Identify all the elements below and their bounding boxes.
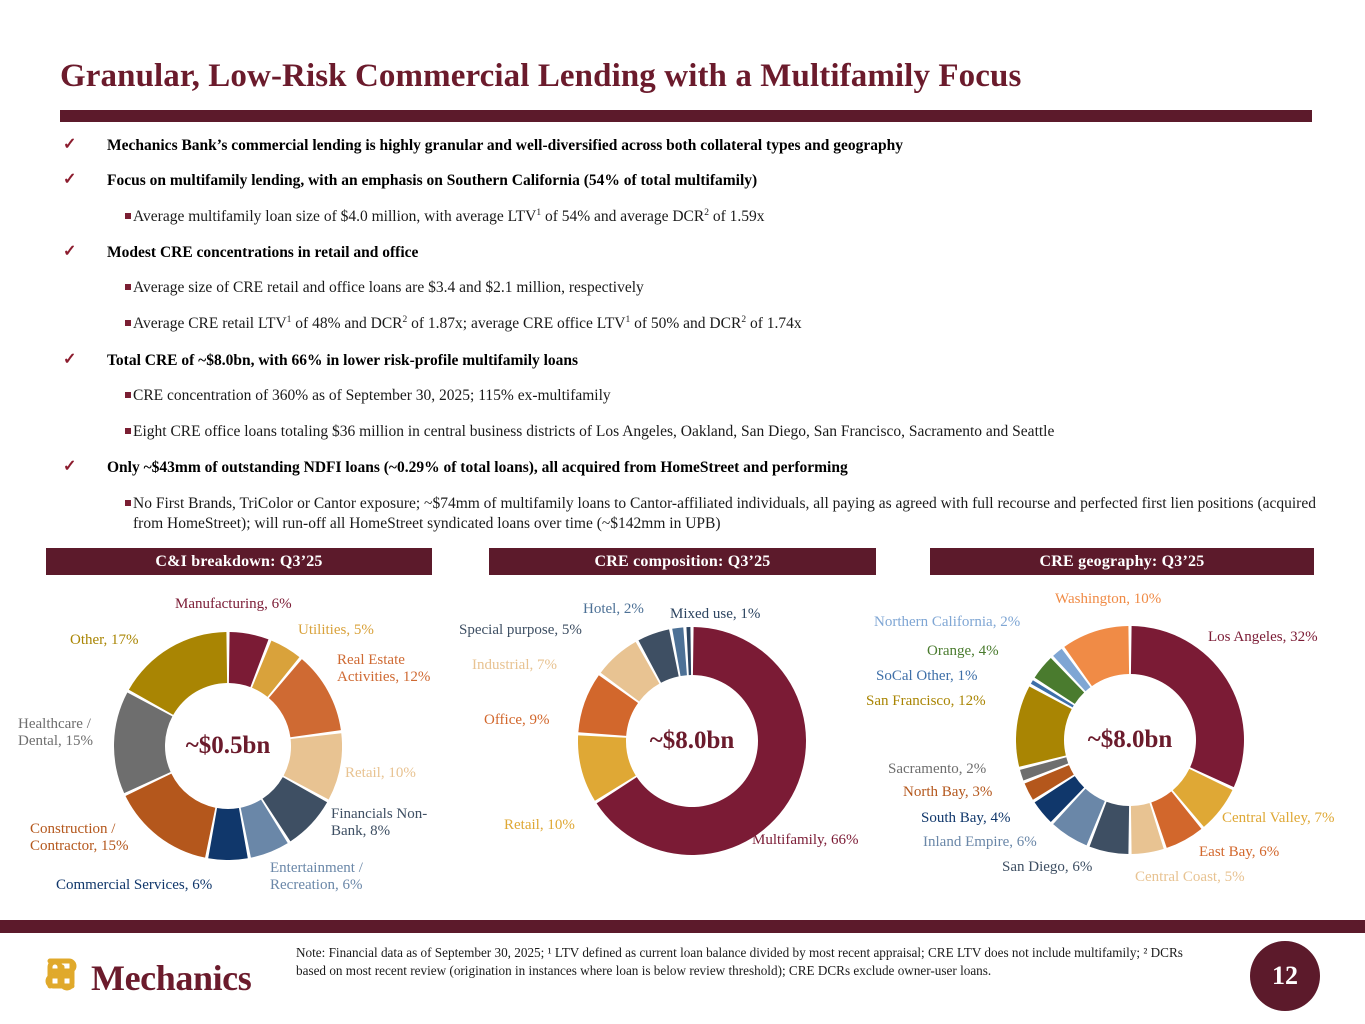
donut-center-label: ~$8.0bn <box>650 727 735 755</box>
slice-label: Mixed use, 1% <box>670 606 760 623</box>
footnote: Note: Financial data as of September 30,… <box>296 944 1216 979</box>
slice-label: Manufacturing, 6% <box>175 596 292 613</box>
pie-slice <box>1131 626 1244 787</box>
slice-label: Retail, 10% <box>504 817 575 834</box>
chart-title-cre: CRE composition: Q3’25 <box>489 548 876 575</box>
chart-panel-cre: CRE composition: Q3’25 <box>489 548 876 575</box>
bullet-list: ✓Mechanics Bank’s commercial lending is … <box>55 136 1345 550</box>
bullet-text: Eight CRE office loans totaling $36 mill… <box>133 423 1054 440</box>
bullet-primary: ✓Only ~$43mm of outstanding NDFI loans (… <box>55 458 1345 477</box>
bullet-secondary: Eight CRE office loans totaling $36 mill… <box>55 422 1345 442</box>
pie-slice <box>1016 686 1072 766</box>
donut-center-label: ~$0.5bn <box>186 732 271 760</box>
chart-panel-geo: CRE geography: Q3’25 <box>930 548 1314 575</box>
square-bullet-icon <box>125 284 131 290</box>
bullet-secondary: CRE concentration of 360% as of Septembe… <box>55 386 1345 406</box>
square-bullet-icon <box>125 428 131 434</box>
slice-label: Construction / Contractor, 15% <box>30 821 180 855</box>
brand-logo: Mechanics <box>38 952 251 1003</box>
bullet-secondary: Average multifamily loan size of $4.0 mi… <box>55 207 1345 227</box>
slice-label: Retail, 10% <box>345 765 416 782</box>
slice-label: Sacramento, 2% <box>888 761 986 778</box>
donut-center-label: ~$8.0bn <box>1088 726 1173 754</box>
bullet-secondary: Average CRE retail LTV1 of 48% and DCR2 … <box>55 314 1345 334</box>
slice-label: Hotel, 2% <box>583 601 644 618</box>
slice-label: Central Valley, 7% <box>1222 810 1334 827</box>
bullet-text: Mechanics Bank’s commercial lending is h… <box>107 137 903 154</box>
title-divider <box>60 110 1312 122</box>
donut-chart-geo: ~$8.0bn <box>1016 626 1244 854</box>
slice-label: Washington, 10% <box>1055 591 1161 608</box>
check-icon: ✓ <box>63 135 76 155</box>
slice-label: San Diego, 6% <box>1002 859 1092 876</box>
square-bullet-icon <box>125 392 131 398</box>
slice-label: Financials Non-Bank, 8% <box>331 806 451 840</box>
bullet-secondary: Average size of CRE retail and office lo… <box>55 278 1345 298</box>
slice-label: Office, 9% <box>484 712 550 729</box>
slice-label: Northern California, 2% <box>874 614 1020 631</box>
slice-label: South Bay, 4% <box>921 810 1010 827</box>
slice-label: Entertainment / Recreation, 6% <box>270 860 400 894</box>
slice-label: North Bay, 3% <box>903 784 992 801</box>
brand-name: Mechanics <box>91 957 251 999</box>
slice-label: Industrial, 7% <box>472 657 557 674</box>
slice-label: Orange, 4% <box>927 643 999 660</box>
bullet-primary: ✓Focus on multifamily lending, with an e… <box>55 171 1345 190</box>
bullet-primary: ✓Modest CRE concentrations in retail and… <box>55 243 1345 262</box>
check-icon: ✓ <box>63 457 76 477</box>
slice-label: Healthcare / Dental, 15% <box>18 716 128 750</box>
bullet-text: Average multifamily loan size of $4.0 mi… <box>133 208 765 225</box>
check-icon: ✓ <box>63 170 76 190</box>
slice-label: Multifamily, 66% <box>752 832 859 849</box>
bullet-text: Average CRE retail LTV1 of 48% and DCR2 … <box>133 315 802 332</box>
slice-label: SoCal Other, 1% <box>876 668 977 685</box>
bullet-text: Only ~$43mm of outstanding NDFI loans (~… <box>107 459 848 476</box>
slice-label: Other, 17% <box>70 632 139 649</box>
knot-icon <box>38 952 84 1003</box>
slice-label: Commercial Services, 6% <box>56 877 212 894</box>
bullet-text: CRE concentration of 360% as of Septembe… <box>133 387 611 404</box>
bullet-text: No First Brands, TriColor or Cantor expo… <box>133 495 1316 532</box>
bullet-text: Modest CRE concentrations in retail and … <box>107 244 418 261</box>
chart-title-ci: C&I breakdown: Q3’25 <box>46 548 432 575</box>
slice-label: San Francisco, 12% <box>866 693 986 710</box>
chart-title-geo: CRE geography: Q3’25 <box>930 548 1314 575</box>
square-bullet-icon <box>125 320 131 326</box>
page-title: Granular, Low-Risk Commercial Lending wi… <box>60 58 1310 95</box>
slice-label: East Bay, 6% <box>1199 844 1279 861</box>
bullet-text: Total CRE of ~$8.0bn, with 66% in lower … <box>107 352 578 369</box>
bullet-text: Average size of CRE retail and office lo… <box>133 279 644 296</box>
check-icon: ✓ <box>63 242 76 262</box>
slice-label: Special purpose, 5% <box>459 622 582 639</box>
footer-divider <box>0 920 1365 933</box>
slice-label: Real Estate Activities, 12% <box>337 652 463 686</box>
bullet-primary: ✓Total CRE of ~$8.0bn, with 66% in lower… <box>55 351 1345 370</box>
chart-panel-ci: C&I breakdown: Q3’25 <box>46 548 432 575</box>
slice-label: Inland Empire, 6% <box>923 834 1037 851</box>
square-bullet-icon <box>125 213 131 219</box>
square-bullet-icon <box>125 500 131 506</box>
donut-chart-cre: ~$8.0bn <box>578 627 806 855</box>
bullet-text: Focus on multifamily lending, with an em… <box>107 172 757 189</box>
slice-label: Central Coast, 5% <box>1135 869 1245 886</box>
bullet-secondary: No First Brands, TriColor or Cantor expo… <box>55 494 1345 534</box>
slice-label: Utilities, 5% <box>298 622 374 639</box>
pie-slice <box>686 627 691 675</box>
pie-slice <box>208 808 248 860</box>
bullet-primary: ✓Mechanics Bank’s commercial lending is … <box>55 136 1345 155</box>
footer-divider-inner <box>0 933 1365 936</box>
page-number-badge: 12 <box>1250 941 1320 1011</box>
slice-label: Los Angeles, 32% <box>1208 629 1318 646</box>
check-icon: ✓ <box>63 350 76 370</box>
slide: Granular, Low-Risk Commercial Lending wi… <box>0 0 1365 1024</box>
